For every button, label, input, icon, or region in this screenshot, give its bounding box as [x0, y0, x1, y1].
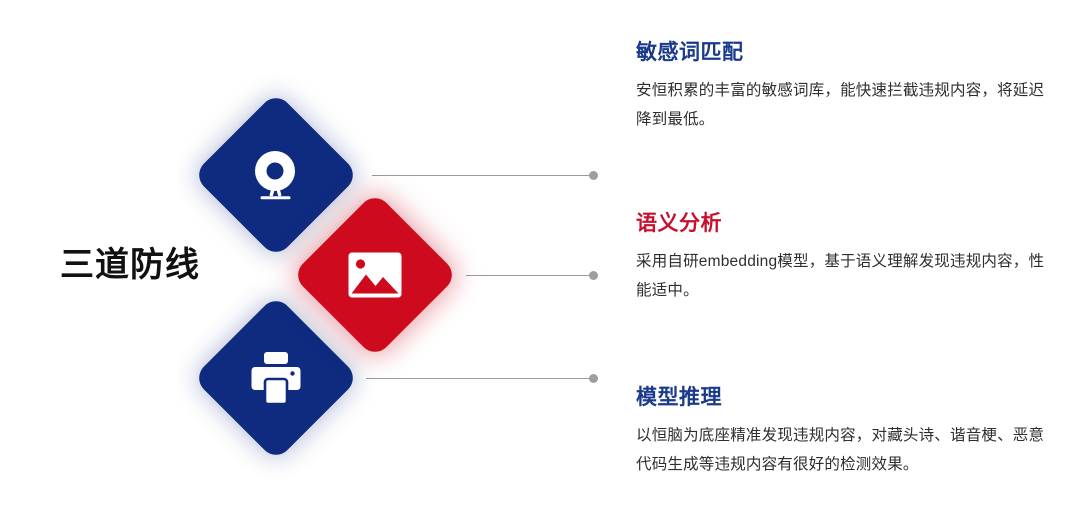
connector-dot-2 [589, 271, 598, 280]
page-title: 三道防线 [30, 248, 230, 282]
connector-line-1 [372, 175, 590, 176]
section-block-2: 语义分析 采用自研embedding模型，基于语义理解发现违规内容，性能适中。 [636, 211, 1056, 306]
section-body-3: 以恒脑为底座精准发现违规内容，对藏头诗、谐音梗、恶意代码生成等违规内容有很好的检… [636, 422, 1056, 479]
section-heading-1: 敏感词匹配 [636, 40, 1056, 65]
section-heading-3: 模型推理 [636, 385, 1056, 410]
connector-line-3 [366, 378, 590, 379]
section-heading-2: 语义分析 [636, 211, 1056, 236]
diamond-node-2[interactable] [292, 192, 459, 359]
section-body-2: 采用自研embedding模型，基于语义理解发现违规内容，性能适中。 [636, 248, 1056, 305]
connector-dot-3 [589, 374, 598, 383]
printer-icon [217, 319, 335, 437]
section-block-3: 模型推理 以恒脑为底座精准发现违规内容，对藏头诗、谐音梗、恶意代码生成等违规内容… [636, 385, 1056, 480]
section-body-1: 安恒积累的丰富的敏感词库，能快速拦截违规内容，将延迟降到最低。 [636, 77, 1056, 134]
image-picture-icon [316, 216, 434, 334]
connector-line-2 [466, 275, 590, 276]
infographic-canvas: 三道防线 [0, 0, 1080, 527]
connector-dot-1 [589, 171, 598, 180]
section-block-1: 敏感词匹配 安恒积累的丰富的敏感词库，能快速拦截违规内容，将延迟降到最低。 [636, 40, 1056, 135]
